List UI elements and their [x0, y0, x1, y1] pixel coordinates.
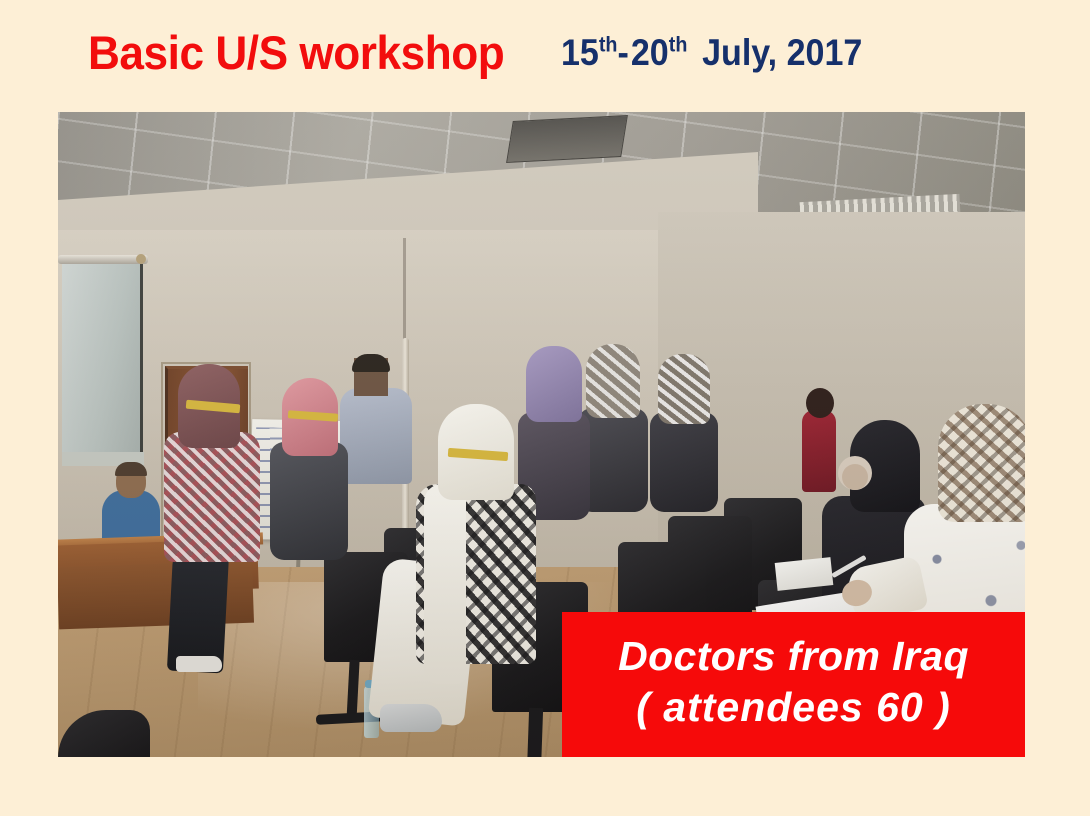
projection-screen-knob: [136, 254, 146, 264]
projection-screen: [62, 260, 143, 466]
foreground-attendee-headscarf: [938, 404, 1025, 522]
date-month-year: July, 2017: [702, 32, 862, 73]
caption-line-2: ( attendees 60 ): [636, 682, 951, 732]
projection-screen-roller: [58, 255, 148, 264]
date-separator: -: [617, 32, 630, 73]
page-title: Basic U/S workshop: [88, 29, 504, 76]
attendee-headscarf: [526, 346, 582, 422]
date-day-end-suffix: th: [669, 32, 688, 56]
male-attendee-body: [340, 388, 412, 484]
presenter-hair: [115, 462, 147, 476]
date-day-start-suffix: th: [599, 32, 618, 56]
attendee-legs: [167, 551, 229, 674]
date-day-start: 15: [561, 32, 599, 73]
attendee-shoe: [176, 656, 222, 672]
caption-banner: Doctors from Iraq ( attendees 60 ): [562, 612, 1025, 757]
foreground-attendee-veil: [424, 484, 466, 684]
attendee-hand: [842, 464, 868, 490]
standing-attendee-body: [802, 410, 836, 492]
attendee-body: [650, 412, 718, 512]
attendee-headscarf: [658, 354, 710, 424]
male-attendee-hair: [352, 354, 390, 372]
page-title-bar: Basic U/S workshop 15th-20thJuly, 2017: [0, 0, 1090, 104]
attendee-patterned-tunic: [164, 432, 260, 562]
attendee-headscarf: [586, 344, 640, 418]
caption-line-1: Doctors from Iraq: [618, 631, 969, 681]
workshop-date: 15th-20thJuly, 2017: [561, 34, 862, 71]
ceiling-vent: [506, 115, 628, 163]
notepad: [775, 557, 834, 591]
foreground-attendee-shoe: [380, 704, 442, 732]
date-day-end: 20: [631, 32, 669, 73]
chair-leg: [527, 708, 543, 757]
standing-attendee-head: [806, 388, 834, 418]
attendee-body: [270, 442, 348, 560]
